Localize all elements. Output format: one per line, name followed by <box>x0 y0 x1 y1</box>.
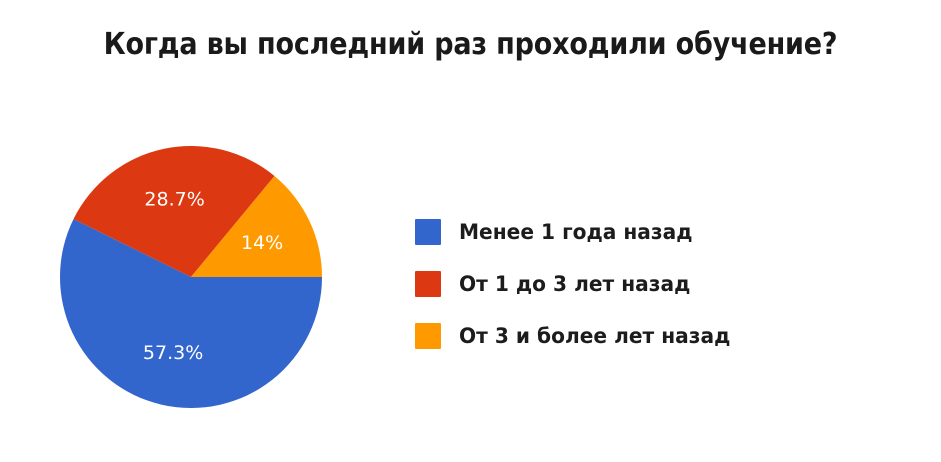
pie-plot-area: 57.3% 28.7% 14% <box>60 146 322 408</box>
legend-swatch-orange-icon <box>415 323 441 349</box>
pie-svg: 57.3% 28.7% 14% <box>60 146 322 408</box>
pie-slice-label-menee-1-goda-nazad: 57.3% <box>143 342 203 364</box>
pie-slice-label-ot-1-do-3-let-nazad: 28.7% <box>144 189 204 211</box>
legend-label-ot-1-do-3-let-nazad: От 1 до 3 лет назад <box>459 272 690 296</box>
chart-title: Когда вы последний раз проходили обучени… <box>47 28 894 61</box>
legend-label-menee-1-goda-nazad: Менее 1 года назад <box>459 220 693 244</box>
legend-label-ot-3-i-bolee-let-nazad: От 3 и более лет назад <box>459 324 730 348</box>
legend-swatch-blue-icon <box>415 219 441 245</box>
chart-legend: Менее 1 года назад От 1 до 3 лет назад О… <box>415 206 775 362</box>
legend-swatch-red-icon <box>415 271 441 297</box>
pie-slice-label-ot-3-i-bolee-let-nazad: 14% <box>241 232 283 254</box>
pie-chart-figure: Когда вы последний раз проходили обучени… <box>0 0 941 462</box>
legend-item-menee-1-goda-nazad[interactable]: Менее 1 года назад <box>415 206 775 258</box>
legend-item-ot-1-do-3-let-nazad[interactable]: От 1 до 3 лет назад <box>415 258 775 310</box>
pie-slices <box>60 146 322 408</box>
legend-item-ot-3-i-bolee-let-nazad[interactable]: От 3 и более лет назад <box>415 310 775 362</box>
